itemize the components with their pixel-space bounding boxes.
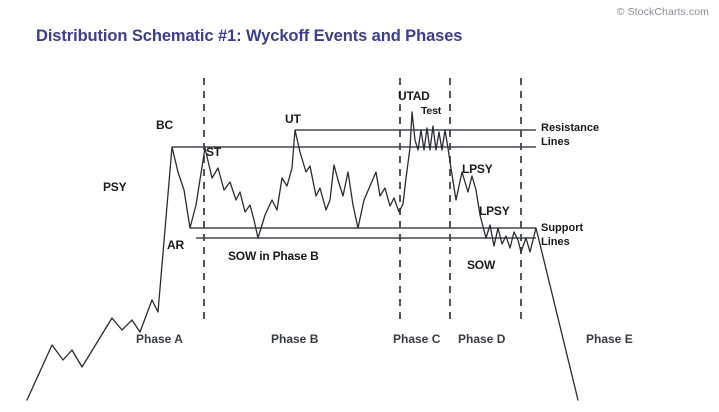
side-label-support-line2: Lines (541, 235, 583, 249)
side-label-resistance-line1: Resistance (541, 121, 599, 135)
side-label-resistance-line2: Lines (541, 135, 599, 149)
side-label-support: SupportLines (541, 221, 583, 249)
phase-label-phase-c: Phase C (393, 332, 440, 346)
phase-label-phase-e: Phase E (586, 332, 633, 346)
schematic-canvas: © StockCharts.com Distribution Schematic… (0, 0, 719, 412)
event-label-psy: PSY (103, 180, 126, 194)
event-label-ar: AR (167, 238, 184, 252)
event-label-st: ST (206, 145, 221, 159)
event-label-utad: UTAD (398, 89, 430, 103)
phase-label-phase-d: Phase D (458, 332, 505, 346)
event-label-lpsy-2: LPSY (479, 204, 510, 218)
side-label-resistance: ResistanceLines (541, 121, 599, 149)
side-label-support-line1: Support (541, 221, 583, 235)
phase-label-phase-b: Phase B (271, 332, 318, 346)
wyckoff-distribution-chart (0, 0, 719, 412)
phase-dividers (204, 78, 521, 320)
event-label-bc: BC (156, 118, 173, 132)
event-label-lpsy-1: LPSY (462, 162, 493, 176)
event-label-test: Test (421, 105, 441, 117)
event-label-sow-phase-d: SOW (467, 258, 495, 272)
event-label-sow-phase-b: SOW in Phase B (228, 249, 319, 263)
phase-label-phase-a: Phase A (136, 332, 183, 346)
event-label-ut: UT (285, 112, 301, 126)
